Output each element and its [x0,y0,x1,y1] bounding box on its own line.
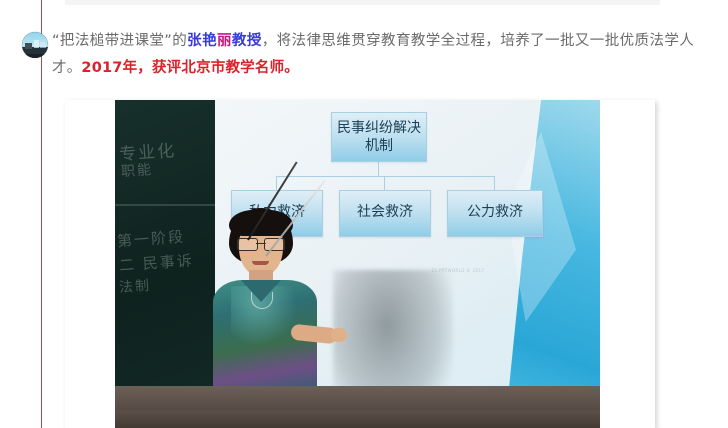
presenter-hand [331,328,347,342]
diagram-connector-left [276,176,277,190]
professor-name-part1: 张艳 [187,33,217,49]
award-text-highlight: ，获评北京市教学名师。 [137,60,299,76]
lecture-desk [115,386,600,428]
professor-name-highlight: 张艳丽教授 [187,33,262,49]
article-page: “把法槌带进课堂”的张艳丽教授，将法律思维贯穿教育教学全过程，培养了一批又一批优… [0,0,728,428]
chalk-line-3: 第一阶段 [116,226,185,252]
diagram-box-root: 民事纠纷解决机制 [331,112,427,162]
chalk-line-5: 法制 [118,275,151,297]
lecture-photo: 专业化 职能 第一阶段 二 民事诉 法制 民事纠纷解决机制 [115,100,600,428]
diagram-connector-top [378,162,379,176]
blackboard: 专业化 职能 第一阶段 二 民事诉 法制 [115,100,215,428]
diagram-box-public-relief: 公力救济 [447,190,543,237]
slide-watermark: 21 PPTWORLD © 2017 [413,268,503,274]
paragraph-quote-segment: “把法槌带进课堂”的 [52,33,187,49]
professor-name-part2: 丽 [217,33,232,49]
lecture-desk-front [115,410,600,428]
blackboard-edge [115,204,215,206]
diagram-box-social-relief: 社会救济 [339,190,431,237]
paragraph-text: “把法槌带进课堂”的张艳丽教授，将法律思维贯穿教育教学全过程，培养了一批又一批优… [52,28,694,82]
diagram-connector-mid [384,176,385,190]
chalk-line-4: 二 民事诉 [118,249,194,275]
chalk-line-2: 职能 [120,159,153,181]
diagram-connector-right [494,176,495,190]
photo-frame: 专业化 职能 第一阶段 二 民事诉 法制 民事纠纷解决机制 [65,100,655,428]
award-year-highlight: 2017年 [81,60,137,76]
top-divider-strip [65,0,660,5]
article-paragraph-block: “把法槌带进课堂”的张艳丽教授，将法律思维贯穿教育教学全过程，培养了一批又一批优… [22,28,694,82]
diagram-connector-horizontal [276,176,495,177]
presenter-mouth [252,261,269,265]
professor-title-part: 教授 [232,33,262,49]
avatar-photo-icon [22,32,48,58]
